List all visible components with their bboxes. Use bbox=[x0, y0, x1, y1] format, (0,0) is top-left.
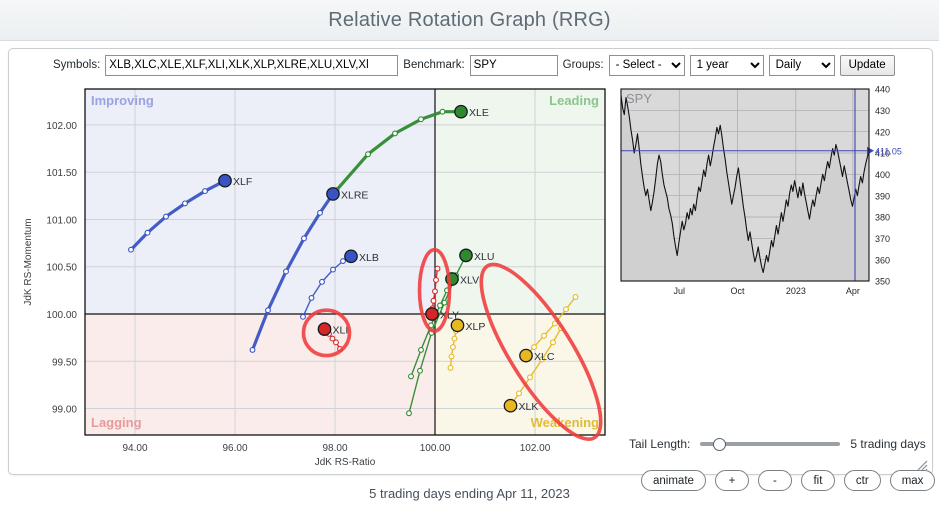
tail-point bbox=[448, 365, 453, 370]
tail-point bbox=[419, 117, 424, 122]
y-axis-tick-label: 99.50 bbox=[52, 357, 77, 368]
toolbar: Symbols: Benchmark: Groups: - Select - 1… bbox=[9, 49, 932, 81]
y-axis-tick-label: 99.00 bbox=[52, 405, 77, 416]
rrg-chart[interactable]: ImprovingLeadingLaggingWeakening102.0010… bbox=[13, 83, 613, 471]
head-label: XLP bbox=[466, 321, 486, 333]
benchmark-label: Benchmark: bbox=[403, 59, 464, 71]
spy-y-tick-label: 380 bbox=[875, 213, 890, 223]
tail-point bbox=[266, 308, 271, 313]
range-select[interactable]: 1 year bbox=[690, 55, 764, 76]
page-title: Relative Rotation Graph (RRG) bbox=[328, 9, 611, 32]
resize-grip-icon[interactable] bbox=[914, 457, 928, 471]
tail-point bbox=[452, 336, 457, 341]
y-axis-tick-label: 102.00 bbox=[46, 121, 77, 132]
spy-x-tick-label: Apr bbox=[846, 286, 860, 296]
tail-point bbox=[250, 348, 255, 353]
series-head-xlf[interactable]: XLF bbox=[219, 174, 252, 188]
spy-chart[interactable]: 350360370380390400410420430440JulOct2023… bbox=[617, 83, 927, 303]
head-marker[interactable] bbox=[327, 188, 339, 200]
tail-point bbox=[440, 109, 445, 114]
head-marker[interactable] bbox=[504, 399, 516, 411]
head-label: XLRE bbox=[341, 189, 368, 201]
head-marker[interactable] bbox=[460, 249, 472, 261]
series-head-xle[interactable]: XLE bbox=[455, 105, 489, 119]
head-marker[interactable] bbox=[219, 174, 231, 186]
series-head-xlb[interactable]: XLB bbox=[345, 250, 379, 264]
tail-length-slider[interactable] bbox=[700, 442, 840, 446]
tail-length-control: Tail Length: 5 trading days bbox=[629, 434, 929, 454]
tail-point bbox=[366, 152, 371, 157]
quadrant-label-improving: Improving bbox=[91, 93, 154, 108]
tail-point bbox=[434, 278, 439, 283]
head-label: XLV bbox=[460, 275, 479, 287]
tail-point bbox=[551, 340, 556, 345]
spy-y-tick-label: 390 bbox=[875, 191, 890, 201]
tail-point bbox=[407, 411, 412, 416]
x-axis-tick-label: 94.00 bbox=[122, 443, 147, 454]
head-label: XLF bbox=[233, 176, 252, 188]
series-head-xli[interactable]: XLI bbox=[318, 323, 348, 337]
spy-symbol-label: SPY bbox=[626, 91, 652, 106]
quadrant-improving bbox=[85, 89, 435, 314]
tail-point bbox=[129, 247, 134, 252]
spy-svg: 350360370380390400410420430440JulOct2023… bbox=[617, 83, 927, 303]
y-axis-tick-label: 101.00 bbox=[46, 215, 77, 226]
spy-y-tick-label: 400 bbox=[875, 170, 890, 180]
series-head-xlp[interactable]: XLP bbox=[451, 319, 485, 333]
tail-point bbox=[542, 333, 547, 338]
spy-price-arrow bbox=[867, 147, 874, 155]
tail-point bbox=[318, 210, 323, 215]
spy-last-price: 411.05 bbox=[875, 146, 902, 156]
tail-point bbox=[451, 345, 456, 350]
frequency-select[interactable]: Daily bbox=[769, 55, 835, 76]
app-header: Relative Rotation Graph (RRG) bbox=[0, 0, 939, 41]
tail-length-label: Tail Length: bbox=[629, 437, 690, 451]
spy-y-tick-label: 370 bbox=[875, 234, 890, 244]
tail-point bbox=[418, 368, 423, 373]
groups-select[interactable]: - Select - bbox=[609, 55, 685, 76]
spy-y-tick-label: 360 bbox=[875, 255, 890, 265]
tail-point bbox=[532, 345, 537, 350]
tail-point bbox=[409, 374, 414, 379]
update-button[interactable]: Update bbox=[840, 55, 895, 76]
x-axis-tick-label: 100.00 bbox=[420, 443, 451, 454]
rrg-panel: Symbols: Benchmark: Groups: - Select - 1… bbox=[8, 48, 933, 475]
symbols-label: Symbols: bbox=[53, 59, 100, 71]
footer-text: 5 trading days ending Apr 11, 2023 bbox=[369, 486, 570, 501]
x-axis-tick-label: 96.00 bbox=[222, 443, 247, 454]
spy-y-tick-label: 440 bbox=[875, 85, 890, 95]
y-axis-tick-label: 100.50 bbox=[46, 263, 77, 274]
tail-point bbox=[431, 298, 436, 303]
spy-x-tick-label: Oct bbox=[731, 286, 746, 296]
head-marker[interactable] bbox=[426, 308, 438, 320]
tail-point bbox=[419, 348, 424, 353]
tail-point bbox=[433, 289, 438, 294]
series-head-xlk[interactable]: XLK bbox=[504, 399, 538, 413]
tail-point bbox=[341, 259, 346, 264]
head-label: XLC bbox=[534, 351, 555, 363]
head-marker[interactable] bbox=[451, 319, 463, 331]
tail-point bbox=[301, 314, 306, 319]
series-head-xlu[interactable]: XLU bbox=[460, 249, 495, 263]
tail-point bbox=[320, 279, 325, 284]
x-axis-title: JdK RS-Ratio bbox=[315, 457, 376, 468]
tail-point bbox=[183, 201, 188, 206]
spy-y-tick-label: 420 bbox=[875, 127, 890, 137]
spy-x-tick-label: Jul bbox=[674, 286, 686, 296]
head-label: XLK bbox=[519, 401, 539, 413]
y-axis-tick-label: 101.50 bbox=[46, 168, 77, 179]
tail-point bbox=[203, 189, 208, 194]
y-axis-title: JdK RS-Momentum bbox=[23, 218, 34, 305]
tail-point bbox=[564, 307, 569, 312]
tail-point bbox=[284, 269, 289, 274]
spy-y-tick-label: 430 bbox=[875, 106, 890, 116]
head-label: XLU bbox=[474, 251, 494, 263]
rrg-plot: ImprovingLeadingLaggingWeakening102.0010… bbox=[23, 89, 613, 468]
series-head-xlc[interactable]: XLC bbox=[520, 349, 555, 363]
tail-point bbox=[573, 295, 578, 300]
spy-plot: 350360370380390400410420430440JulOct2023… bbox=[621, 85, 902, 296]
tail-point bbox=[449, 354, 454, 359]
benchmark-input[interactable] bbox=[470, 55, 558, 76]
tail-point bbox=[528, 375, 533, 380]
tail-point bbox=[309, 296, 314, 301]
x-axis-tick-label: 102.00 bbox=[520, 443, 551, 454]
tail-point bbox=[331, 267, 336, 272]
head-label: XLI bbox=[333, 325, 349, 337]
rrg-svg: ImprovingLeadingLaggingWeakening102.0010… bbox=[13, 83, 613, 471]
head-marker[interactable] bbox=[345, 250, 357, 262]
tail-point bbox=[330, 336, 335, 341]
tail-point bbox=[164, 214, 169, 219]
tail-point bbox=[435, 266, 440, 271]
y-axis-tick-label: 100.00 bbox=[46, 310, 77, 321]
series-head-xlre[interactable]: XLRE bbox=[327, 188, 369, 202]
head-marker[interactable] bbox=[520, 349, 532, 361]
head-marker[interactable] bbox=[455, 105, 467, 117]
head-label: XLB bbox=[359, 252, 379, 264]
symbols-input[interactable] bbox=[105, 55, 398, 76]
tail-point bbox=[393, 131, 398, 136]
tail-point bbox=[438, 303, 443, 308]
quadrant-label-lagging: Lagging bbox=[91, 415, 142, 430]
spy-y-tick-label: 350 bbox=[875, 277, 890, 287]
tail-length-value: 5 trading days bbox=[850, 437, 925, 451]
spy-x-tick-label: 2023 bbox=[786, 286, 806, 296]
tail-point bbox=[517, 391, 522, 396]
tail-point bbox=[145, 230, 150, 235]
tail-point bbox=[302, 236, 307, 241]
head-label: XLE bbox=[469, 107, 489, 119]
head-marker[interactable] bbox=[318, 323, 330, 335]
groups-label: Groups: bbox=[563, 59, 604, 71]
quadrant-label-leading: Leading bbox=[549, 93, 599, 108]
x-axis-tick-label: 98.00 bbox=[322, 443, 347, 454]
footer: 5 trading days ending Apr 11, 2023 bbox=[0, 482, 939, 504]
